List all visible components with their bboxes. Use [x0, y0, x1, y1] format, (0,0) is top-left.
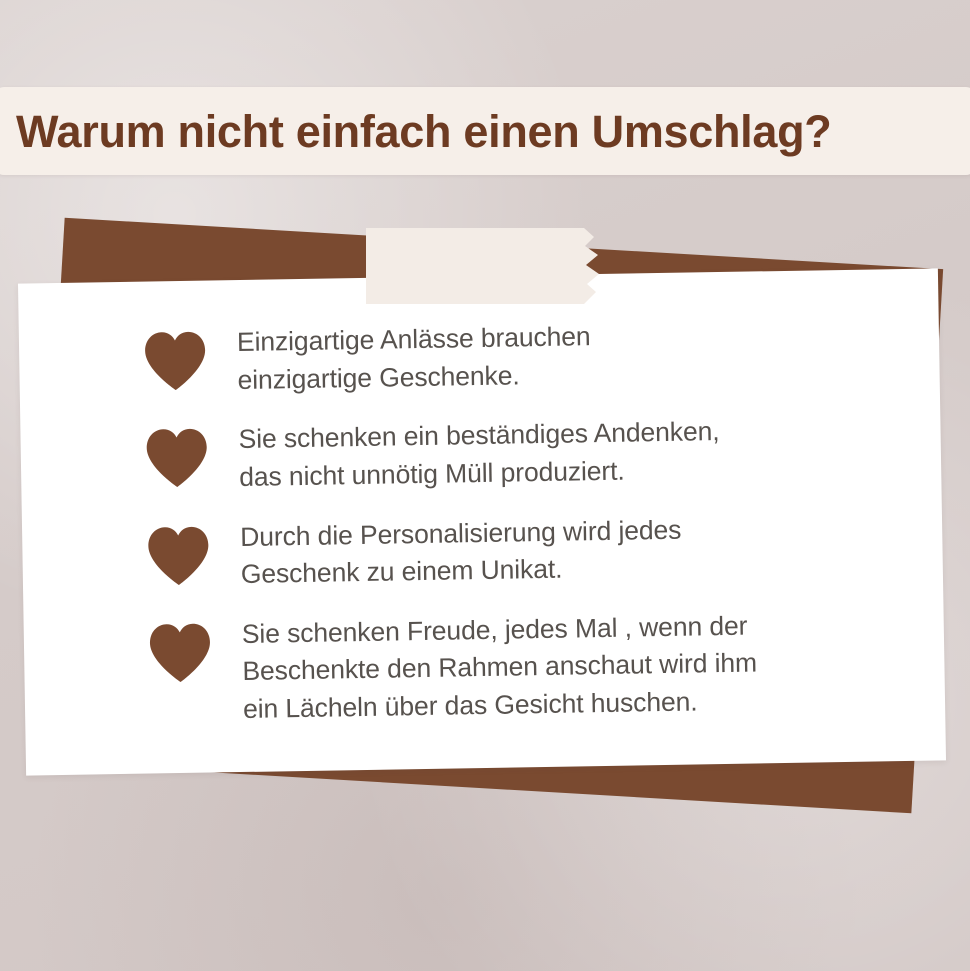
heart-icon: [144, 428, 209, 489]
washi-tape: [366, 228, 614, 304]
poster-canvas: Warum nicht einfach einen Umschlag? Einz…: [0, 0, 970, 971]
list-item: Einzigartige Anlässe brauchen einzigarti…: [143, 313, 900, 401]
list-item-text: Einzigartige Anlässe brauchen einzigarti…: [237, 318, 592, 399]
list-item: Sie schenken ein beständiges Andenken, d…: [144, 410, 901, 498]
list-item-text: Sie schenken ein beständiges Andenken, d…: [238, 413, 720, 496]
heart-icon: [148, 622, 213, 683]
white-note-card: Einzigartige Anlässe brauchen einzigarti…: [18, 268, 946, 775]
heart-icon: [146, 525, 211, 586]
list-item-text: Durch die Personalisierung wird jedes Ge…: [240, 511, 682, 594]
list-item-text: Sie schenken Freude, jedes Mal , wenn de…: [242, 607, 758, 728]
heart-icon: [143, 331, 208, 392]
list-item: Durch die Personalisierung wird jedes Ge…: [146, 508, 903, 596]
page-title: Warum nicht einfach einen Umschlag?: [16, 109, 831, 154]
title-band: Warum nicht einfach einen Umschlag?: [0, 87, 970, 175]
list-item: Sie schenken Freude, jedes Mal , wenn de…: [148, 605, 906, 730]
benefits-list: Einzigartige Anlässe brauchen einzigarti…: [18, 268, 946, 775]
